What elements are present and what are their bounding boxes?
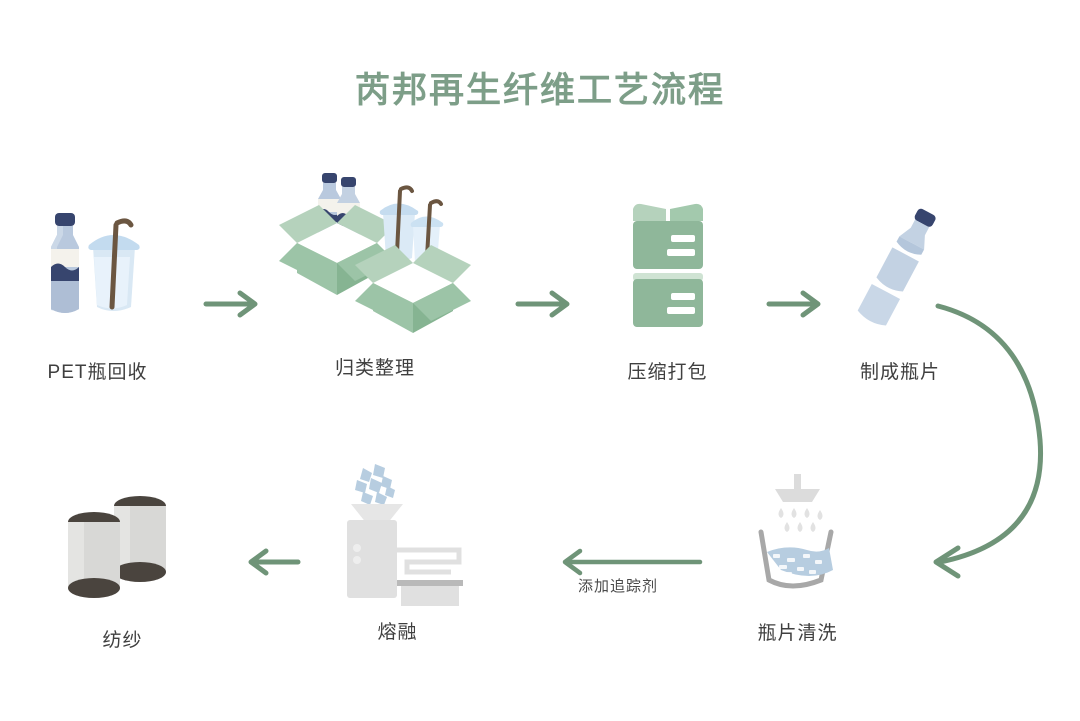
arrow-curve-down-left — [880, 290, 1080, 595]
step-label: 纺纱 — [40, 625, 205, 652]
yarn-spools-icon — [58, 480, 188, 605]
step-label: 归类整理 — [270, 353, 480, 380]
step-spinning[interactable]: 纺纱 — [40, 480, 205, 652]
step-flake-washing[interactable]: 瓶片清洗 — [715, 470, 880, 645]
step-compress-baling[interactable]: 压缩打包 — [585, 195, 750, 384]
bottle-and-cup-icon — [33, 195, 163, 335]
page-title: 芮邦再生纤维工艺流程 — [0, 62, 1080, 113]
step-melting[interactable]: 熔融 — [310, 462, 485, 644]
shower-basin-icon — [743, 470, 853, 600]
box-front — [355, 245, 471, 333]
step-label: 熔融 — [310, 617, 485, 644]
step-label: PET瓶回收 — [10, 357, 185, 384]
arrow-left-2 — [234, 546, 306, 583]
step-sorting[interactable]: 归类整理 — [270, 165, 480, 380]
step-label: 压缩打包 — [585, 357, 750, 384]
arrow-right-2 — [512, 286, 578, 327]
open-boxes-icon — [275, 165, 475, 335]
step-pet-bottle-recycling[interactable]: PET瓶回收 — [10, 195, 185, 384]
arrow-right-1 — [200, 286, 266, 327]
stacked-bales-icon — [623, 195, 713, 335]
extruder-machine-icon — [313, 462, 483, 607]
step-label: 瓶片清洗 — [715, 618, 880, 645]
arrow-label-add-tracer: 添加追踪剂 — [578, 575, 658, 596]
